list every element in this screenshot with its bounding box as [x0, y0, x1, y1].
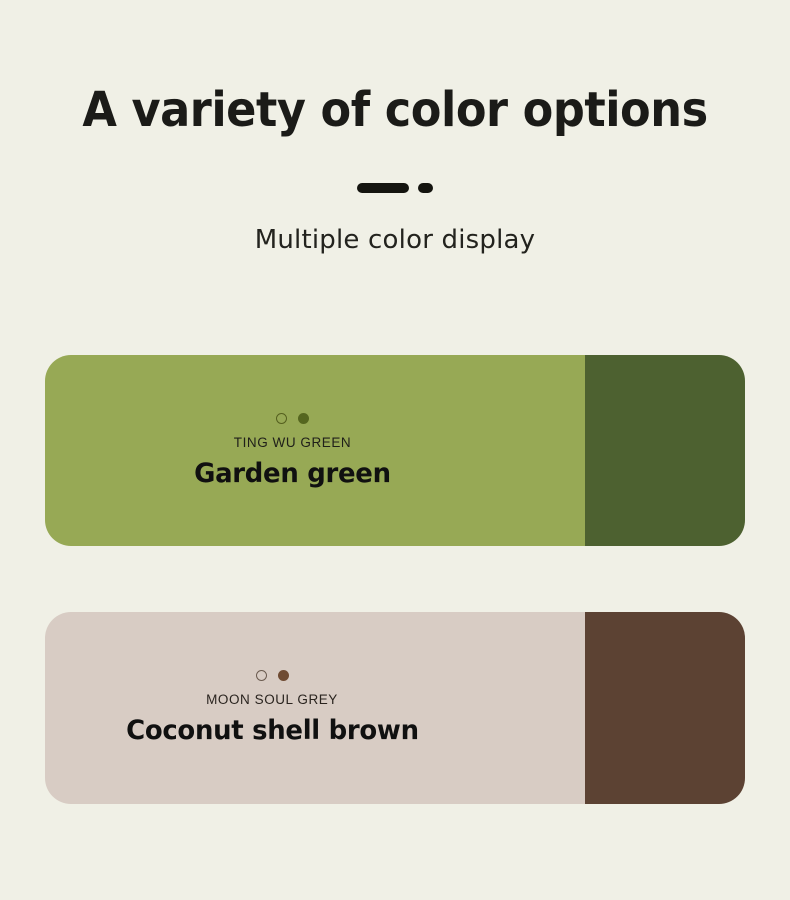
divider: [0, 182, 790, 194]
swatch-unselected-icon[interactable]: [276, 413, 287, 424]
swatch-selected-icon[interactable]: [278, 670, 289, 681]
swatch-unselected-icon[interactable]: [256, 670, 267, 681]
divider-dot-icon: [418, 183, 433, 193]
card-background-right: [585, 355, 745, 546]
color-swatch-group[interactable]: [276, 413, 309, 424]
page-title: A variety of color options: [28, 86, 763, 134]
color-code-label: MOON SOUL GREY: [206, 692, 338, 707]
swatch-selected-icon[interactable]: [298, 413, 309, 424]
color-swatch-group[interactable]: [256, 670, 289, 681]
color-option-card-brown[interactable]: MOON SOUL GREY Coconut shell brown: [45, 612, 745, 804]
card-text-block: TING WU GREEN Garden green: [120, 355, 465, 546]
color-code-label: TING WU GREEN: [234, 435, 351, 450]
divider-dash-icon: [357, 183, 409, 193]
color-name-label: Coconut shell brown: [126, 715, 419, 746]
page-header: A variety of color options Multiple colo…: [0, 0, 790, 255]
color-name-label: Garden green: [194, 458, 391, 489]
page-subtitle: Multiple color display: [0, 225, 790, 255]
color-option-card-green[interactable]: TING WU GREEN Garden green: [45, 355, 745, 546]
card-text-block: MOON SOUL GREY Coconut shell brown: [77, 612, 467, 804]
card-background-right: [585, 612, 745, 804]
